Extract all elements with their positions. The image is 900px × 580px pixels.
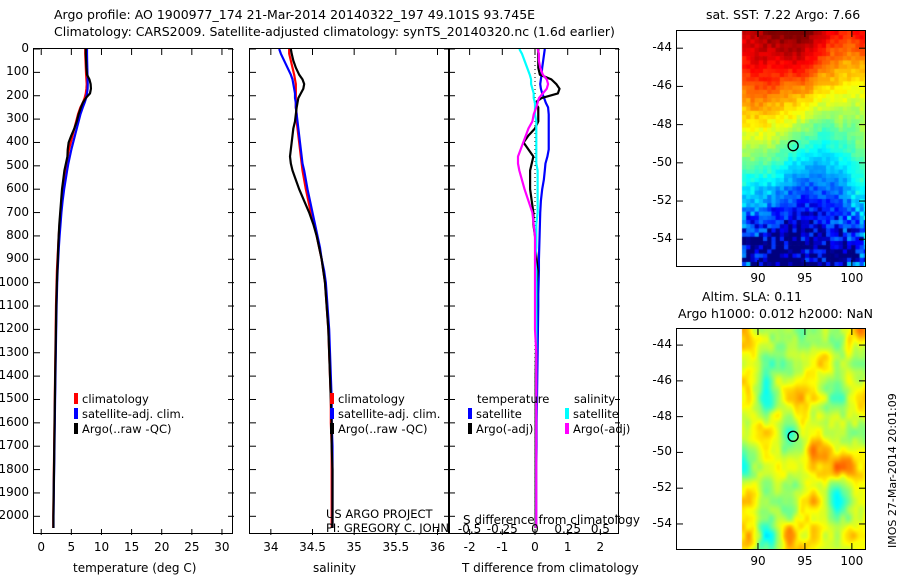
t-diff-tick-1: 1 xyxy=(564,540,572,554)
sst-map-title: sat. SST: 7.22 Argo: 7.66 xyxy=(706,7,860,22)
depth-tick-900: 900 xyxy=(6,251,29,265)
legend-label: climatology xyxy=(338,392,405,406)
difference-profile-plot xyxy=(450,49,620,535)
t-diff-tick-0: 0 xyxy=(531,540,539,554)
legend-entry: climatology xyxy=(74,392,184,407)
legend-swatch-icon xyxy=(468,408,472,419)
sst-map-lon-tick-100: 100 xyxy=(840,271,863,285)
s-diff-tick--0.25: -0.25 xyxy=(487,522,518,536)
sst-map-lat-tick--52: -52 xyxy=(652,193,672,207)
salinity-tick-34.5: 34.5 xyxy=(299,540,326,554)
depth-tick-300: 300 xyxy=(6,111,29,125)
t-difference-axis-label: T difference from climatology xyxy=(462,561,639,575)
salinity-legend: climatologysatellite-adj. clim.Argo(..ra… xyxy=(330,392,440,437)
depth-tick-800: 800 xyxy=(6,228,29,242)
sst-map-lon-tick-90: 90 xyxy=(750,271,765,285)
sst-map-lat-tick--46: -46 xyxy=(652,78,672,92)
legend-label: satellite xyxy=(573,407,619,421)
depth-tick-1300: 1300 xyxy=(0,345,29,359)
legend-swatch-icon xyxy=(330,423,334,434)
depth-tick-2000: 2000 xyxy=(0,508,29,522)
legend-entry: satellite-adj. clim. xyxy=(330,407,440,422)
depth-tick-1000: 1000 xyxy=(0,275,29,289)
sla-map-lon-tick-90: 90 xyxy=(750,554,765,568)
legend-swatch-icon xyxy=(74,423,78,434)
legend-swatch-icon xyxy=(565,423,569,434)
sst-map-marker-overlay xyxy=(677,31,865,266)
salinity-tick-35: 35 xyxy=(347,540,362,554)
sst-map-lon-tick-95: 95 xyxy=(797,271,812,285)
depth-tick-200: 200 xyxy=(6,88,29,102)
depth-tick-1200: 1200 xyxy=(0,321,29,335)
legend-swatch-icon xyxy=(565,408,569,419)
depth-tick-1600: 1600 xyxy=(0,415,29,429)
depth-tick-1400: 1400 xyxy=(0,368,29,382)
temperature-tick-30: 30 xyxy=(214,540,229,554)
temperature-tick-20: 20 xyxy=(154,540,169,554)
legend-entry: Argo(..raw -QC) xyxy=(330,422,440,437)
temperature-tick-5: 5 xyxy=(68,540,76,554)
credit-line1: US ARGO PROJECT xyxy=(326,507,433,521)
legend-swatch-icon xyxy=(74,393,78,404)
sla-map-lat-tick--48: -48 xyxy=(652,409,672,423)
sst-map-lat-tick--44: -44 xyxy=(652,40,672,54)
temperature-profile-plot xyxy=(34,49,234,535)
s-diff-tick-0: 0 xyxy=(531,522,539,536)
depth-tick-500: 500 xyxy=(6,158,29,172)
temperature-legend: climatologysatellite-adj. clim.Argo(..ra… xyxy=(74,392,184,437)
legend-header: salinity xyxy=(574,392,630,406)
imos-timestamp: IMOS 27-Mar-2014 20:01:09 xyxy=(886,393,899,548)
sla-map-lat-tick--52: -52 xyxy=(652,480,672,494)
temperature-tick-0: 0 xyxy=(37,540,45,554)
depth-tick-0: 0 xyxy=(21,41,29,55)
sla-map-title-line2: Argo h1000: 0.012 h2000: NaN xyxy=(678,306,873,321)
s-diff-tick-0.25: 0.25 xyxy=(554,522,581,536)
depth-tick-1500: 1500 xyxy=(0,391,29,405)
page-title-line1: Argo profile: AO 1900977_174 21-Mar-2014… xyxy=(54,7,535,22)
s-diff-tick-0.5: 0.5 xyxy=(591,522,610,536)
temperature-axis-label: temperature (deg C) xyxy=(73,561,196,575)
legend-entry: satellite xyxy=(468,407,549,422)
depth-tick-1100: 1100 xyxy=(0,298,29,312)
temperature-tick-10: 10 xyxy=(94,540,109,554)
legend-entry: Argo(-adj) xyxy=(565,422,630,437)
salinity-profile-plot xyxy=(250,49,450,535)
salinity-tick-34: 34 xyxy=(263,540,278,554)
salinity-tick-35.5: 35.5 xyxy=(382,540,409,554)
s-diff-tick--0.5: -0.5 xyxy=(458,522,481,536)
legend-entry: Argo(-adj) xyxy=(468,422,549,437)
sst-map-lat-tick--48: -48 xyxy=(652,117,672,131)
legend-entry: climatology xyxy=(330,392,440,407)
legend-entry: satellite-adj. clim. xyxy=(74,407,184,422)
salinity-axis-label: salinity xyxy=(313,561,356,575)
depth-tick-1700: 1700 xyxy=(0,438,29,452)
depth-tick-1900: 1900 xyxy=(0,485,29,499)
legend-label: satellite xyxy=(476,407,522,421)
depth-tick-600: 600 xyxy=(6,181,29,195)
salinity-tick-36: 36 xyxy=(430,540,445,554)
legend-header: temperature xyxy=(477,392,549,406)
legend-label: climatology xyxy=(82,392,149,406)
legend-entry: satellite xyxy=(565,407,630,422)
sst-map-lat-tick--54: -54 xyxy=(652,231,672,245)
legend-swatch-icon xyxy=(468,423,472,434)
legend-label: Argo(..raw -QC) xyxy=(82,422,172,436)
depth-tick-1800: 1800 xyxy=(0,462,29,476)
sla-map-marker-overlay xyxy=(677,329,865,549)
t-diff-tick-2: 2 xyxy=(597,540,605,554)
difference-legend-temperature: temperaturesatelliteArgo(-adj) xyxy=(468,392,549,437)
sla-map-lat-tick--54: -54 xyxy=(652,516,672,530)
sst-map-lat-tick--50: -50 xyxy=(652,155,672,169)
legend-label: Argo(-adj) xyxy=(573,422,630,436)
sla-map-lon-tick-100: 100 xyxy=(840,554,863,568)
sla-map-lat-tick--50: -50 xyxy=(652,444,672,458)
legend-label: Argo(..raw -QC) xyxy=(338,422,428,436)
temperature-tick-25: 25 xyxy=(184,540,199,554)
t-diff-tick--1: -1 xyxy=(496,540,508,554)
depth-tick-100: 100 xyxy=(6,64,29,78)
legend-label: satellite-adj. clim. xyxy=(82,407,184,421)
page-title-line2: Climatology: CARS2009. Satellite-adjuste… xyxy=(54,24,615,39)
sla-map-lat-tick--44: -44 xyxy=(652,337,672,351)
sla-map-lat-tick--46: -46 xyxy=(652,373,672,387)
legend-swatch-icon xyxy=(330,393,334,404)
sla-map-lon-tick-95: 95 xyxy=(797,554,812,568)
legend-swatch-icon xyxy=(330,408,334,419)
temperature-tick-15: 15 xyxy=(124,540,139,554)
sla-map-title-line1: Altim. SLA: 0.11 xyxy=(702,289,802,304)
legend-entry: Argo(..raw -QC) xyxy=(74,422,184,437)
depth-tick-700: 700 xyxy=(6,205,29,219)
legend-label: satellite-adj. clim. xyxy=(338,407,440,421)
legend-swatch-icon xyxy=(74,408,78,419)
t-diff-tick--2: -2 xyxy=(464,540,476,554)
legend-label: Argo(-adj) xyxy=(476,422,533,436)
depth-tick-400: 400 xyxy=(6,134,29,148)
difference-legend-salinity: salinitysatelliteArgo(-adj) xyxy=(565,392,630,437)
